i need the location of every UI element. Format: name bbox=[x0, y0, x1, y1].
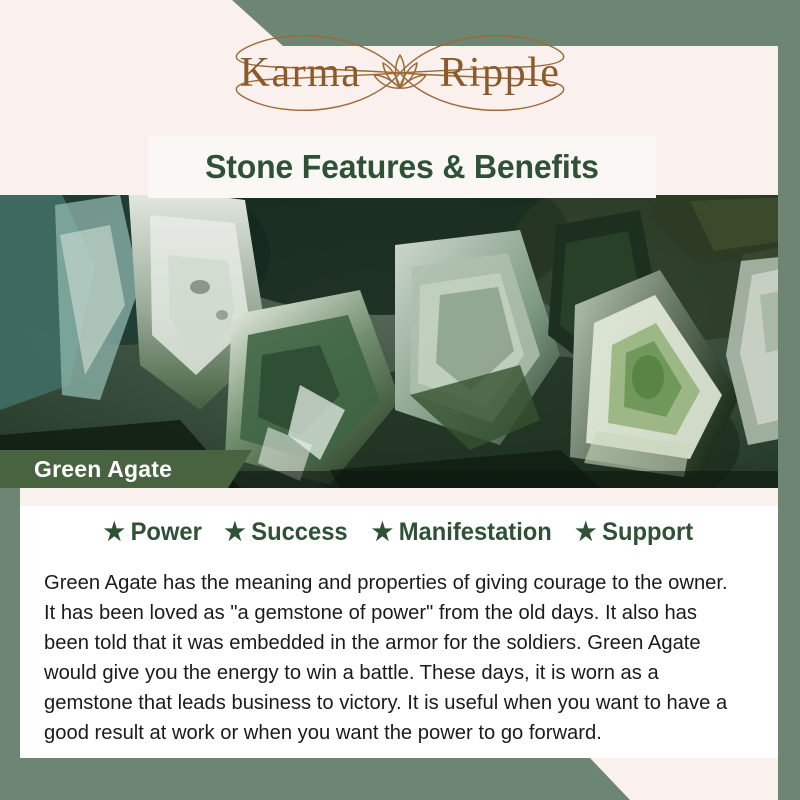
feature-item-support: ★ Support bbox=[575, 518, 693, 547]
brand-logo: Karma Ripple bbox=[185, 31, 615, 115]
stone-name-label: Green Agate bbox=[34, 456, 172, 483]
infographic-page: Green Agate ★ Power ★ Success ★ Manifest… bbox=[0, 0, 800, 800]
pink-divider-strip bbox=[0, 488, 800, 506]
content-card: ★ Power ★ Success ★ Manifestation ★ Supp… bbox=[20, 506, 778, 758]
stone-name-tag: Green Agate bbox=[0, 450, 252, 488]
brand-wordmark: Karma Ripple bbox=[240, 49, 561, 97]
feature-item-manifestation: ★ Manifestation bbox=[372, 518, 552, 547]
star-icon: ★ bbox=[372, 520, 393, 545]
brand-word-right: Ripple bbox=[439, 49, 560, 97]
feature-label: Success bbox=[251, 518, 347, 547]
feature-item-success: ★ Success bbox=[224, 518, 347, 547]
frame-bottom-accent bbox=[0, 758, 800, 800]
feature-list: ★ Power ★ Success ★ Manifestation ★ Supp… bbox=[44, 518, 754, 547]
stone-photo-art bbox=[0, 195, 800, 488]
stone-photo bbox=[0, 195, 800, 488]
section-title-band: Stone Features & Benefits bbox=[148, 136, 656, 198]
feature-label: Support bbox=[602, 518, 693, 547]
lotus-icon bbox=[371, 51, 429, 95]
feature-label: Manifestation bbox=[399, 518, 552, 547]
page-title: Stone Features & Benefits bbox=[205, 148, 599, 186]
star-icon: ★ bbox=[575, 520, 596, 545]
feature-item-power: ★ Power bbox=[104, 518, 202, 547]
brand-word-left: Karma bbox=[240, 49, 362, 97]
feature-label: Power bbox=[131, 518, 202, 547]
description-paragraph: Green Agate has the meaning and properti… bbox=[44, 568, 743, 749]
frame-left-accent bbox=[0, 487, 20, 800]
star-icon: ★ bbox=[224, 520, 245, 545]
star-icon: ★ bbox=[104, 520, 125, 545]
brand-header: Karma Ripple bbox=[0, 0, 800, 132]
